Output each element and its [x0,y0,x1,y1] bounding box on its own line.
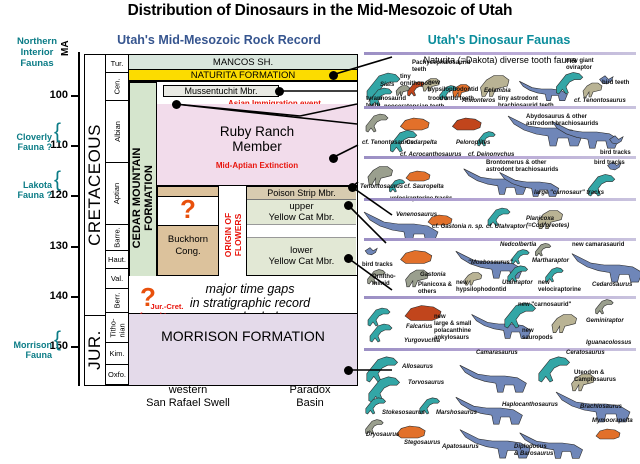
fauna-taxon-label: Brontomerus & otherastrodont brachiosaur… [486,160,558,174]
fauna-taxon-label: Torvosaurus [408,380,444,387]
northern-interior-faunas-header: NorthernInteriorFaunas [8,36,66,69]
fauna-taxon-label: Nedcolbertia [500,242,536,249]
fauna-taxon-label: cf. Utahraptor [486,224,525,231]
fauna-taxon-label: Cedarosaurus [592,282,632,289]
fauna-taxon-label: Ankonteros [462,98,495,105]
fauna-taxon-label: Cedarpelta [406,140,437,147]
stage-cen: Cen. [106,73,128,101]
western-san-rafael-swell-label: westernSan Rafael Swell [128,384,248,410]
fauna-taxon-label: Dryosaurus [366,432,399,439]
fauna-taxon-label: Apatosaurus [442,444,479,451]
stage-barre: Barre. [106,225,128,251]
axis-tick-label-130: 130 [34,240,68,252]
axis-tick-120 [71,195,78,197]
fauna-taxon-label: Abydosaurus & otherastrodont brachiosaur… [526,114,598,128]
fauna-taxon-label: Haplocanthosaurus [502,402,558,409]
correlation-dot-2 [172,100,181,109]
stage-berr: Berr. [106,289,128,313]
fauna-band-5: FalcariusYurgovuchianewlarge & smallpola… [358,296,640,348]
fauna-taxon-label: Siats [380,82,394,89]
fauna-taxon-label: Utahraptor [502,280,533,287]
fauna-taxon-label: Brachiosaurus [580,404,622,411]
stage-kim: Kim. [106,343,128,365]
dinosaur-fauna-panel: Naturita (=Dakota) diverse tooth faunaSi… [358,48,640,416]
fauna-brace-2: MorrisonFauna{ [4,340,52,360]
fauna-taxon-label: Planicoxa &others [418,282,452,296]
lower-yellow-cat-label: lowerYellow Cat Mbr. [247,245,356,267]
correlation-dot-0 [329,71,338,80]
unit-poison-strip-member: Poison Strip Mbr. [247,187,356,200]
fauna-taxon-label: new "carnosaurid" [518,302,571,309]
fauna-taxon-label: tinyornithopod [400,74,432,88]
period-jurassic: JUR. [85,314,105,385]
fauna-taxon-label: "Moabosaurus" [468,260,513,267]
fauna-taxon-label: Allosaurus [402,364,433,371]
fauna-taxon-label: Diplodocus& Barosaurus [514,444,553,458]
fauna-taxon-label: Mymoorapelta [592,418,633,425]
fauna-taxon-label: bird teeth [602,80,629,87]
fauna-taxon-label: large "carnosaur" tracks [534,190,604,197]
fauna-taxon-label: Falcarius [406,324,432,331]
rock-record-header: Utah's Mid-Mesozoic Rock Record [80,33,358,47]
unit-mussentuchit-member: Mussentuchit Mbr. [163,85,279,97]
fauna-band-1: cf. TenontosaurusCedarpeltaPeloroplitesc… [358,106,640,156]
fauna-taxon-label: Eolambia [484,88,511,95]
fauna-taxon-label: bird tracks [362,262,393,269]
stage-albian: Albian [106,101,128,163]
fauna-taxon-label: new camarasaurid [572,242,624,249]
fauna-taxon-label: Stegosaurus [404,440,440,447]
upper-yellow-cat-label: upperYellow Cat Mbr. [247,201,356,223]
fauna-band-2: Tenontosauruscf. Sauropeltavelociraptori… [358,156,640,198]
fauna-taxon-label: Pachycephalosauridteeth [412,60,470,74]
axis-tick-label-100: 100 [34,89,68,101]
fauna-taxon-label: Uteodon &Camptosaurus [574,370,616,384]
axis-tick-140 [71,296,78,298]
fauna-taxon-label: bird tracks [594,160,625,167]
stage-val: Val. [106,269,128,289]
stage-tithonian: Titho-nian [106,313,128,343]
fauna-taxon-label: newsauropods [522,328,553,342]
fauna-taxon-label: Geminiraptor [586,318,624,325]
fauna-taxon-label: newvelociraptorine [538,280,581,294]
correlation-dot-1 [275,87,284,96]
fauna-taxon-label: cf. Gastonia n. sp. [432,224,484,231]
unit-mancos-shale: MANCOS SH. [129,55,357,69]
buckhorn-label: BuckhornCong. [157,234,219,258]
fauna-band-6: AllosaurusTorvosaurusStokesosaurusMarsho… [358,348,640,464]
fauna-taxon-label: Venenosaurus [396,212,437,219]
time-axis-line [78,52,80,386]
period-column: CRETACEOUS JUR. [84,54,106,386]
fauna-taxon-label: Planicoxa(=Codroreotes) [526,216,569,230]
axis-tick-150 [71,346,78,348]
dinosaur-faunas-header: Utah's Dinosaur Faunas [358,33,640,47]
fauna-taxon-label: newlarge & smallpolacanthineankylosaurs [434,314,471,342]
fauna-taxon-label: Iguanacolossus [586,340,631,347]
axis-unit-label: MA [60,40,71,56]
fauna-band-3: Venenosauruscf. Gastonia n. sp.cf. Utahr… [358,198,640,238]
fauna-brace-0: CloverlyFauna ?{ [4,132,52,152]
stage-haut: Haut. [106,251,128,269]
fauna-band-0: Naturita (=Dakota) diverse tooth faunaSi… [358,52,640,106]
mid-aptian-extinction-label: Mid-Aptian Extinction [157,161,357,170]
stage-column: Tur.Cen.AlbianAptianBarre.Haut.Val.Berr.… [105,54,129,386]
question-mark-icon: ? [157,194,219,225]
axis-tick-100 [71,95,78,97]
axis-tick-label-140: 140 [34,290,68,302]
fauna-taxon-label: newhypsilophodontid [428,80,478,94]
correlation-dot-6 [344,254,353,263]
unit-morrison-formation: MORRISON FORMATION [129,314,357,385]
paradox-basin-label: ParadoxBasin [262,384,358,410]
axis-tick-110 [71,145,78,147]
unit-naturita-formation: NATURITA FORMATION [129,69,357,82]
correlation-dot-3 [329,154,338,163]
origin-of-flowers-label: ORIGIN OFFLOWERS [222,192,244,278]
period-cretaceous: CRETACEOUS [85,55,105,314]
page-title: Distribution of Dinosaurs in the Mid-Mes… [0,2,640,20]
period-divider [84,315,106,316]
stage-tur: Tur. [106,55,128,73]
correlation-dot-7 [344,366,353,375]
fauna-taxon-label: Gastonia [420,272,446,279]
fauna-taxon-label: cf. Sauropelta [404,184,444,191]
fauna-taxon-label: Camarasaurus [476,350,518,357]
ruby-ranch-label: Ruby RanchMember [157,124,357,154]
correlation-dot-4 [348,183,357,192]
stage-oxfo: Oxfo. [106,365,128,385]
fauna-taxon-label: Ornitho-mimid [372,274,396,288]
unit-yellow-cat-gap [247,225,356,237]
fauna-taxon-label: Martharaptor [532,258,569,265]
fauna-taxon-label: newhypsilophodontid [456,280,506,294]
fauna-taxon-label: new giantoviraptor [566,58,594,72]
correlation-dot-5 [344,201,353,210]
fauna-band-4: bird tracksOrnitho-mimidGastoniaPlanicox… [358,238,640,296]
fauna-taxon-label: Tenontosaurus [360,184,403,191]
cedar-mountain-label: CEDAR MOUNTAINFORMATION [131,148,155,249]
fauna-taxon-label: cf. Tenontosaurus [574,98,626,105]
axis-tick-130 [71,246,78,248]
fauna-taxon-label: Ceratosaurus [566,350,605,357]
fauna-brace-1: LakotaFauna ?{ [4,180,52,200]
stage-aptian: Aptian [106,163,128,225]
fauna-taxon-label: Peloroplites [456,140,490,147]
